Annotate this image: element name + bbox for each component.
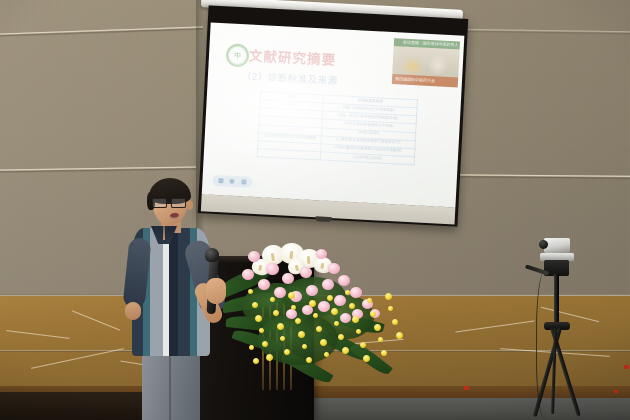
floral-arrangement: [222, 243, 414, 403]
orchid: [291, 305, 296, 310]
screen-pull-tab: [315, 216, 331, 222]
orchid: [356, 329, 361, 334]
orchid: [259, 328, 264, 333]
orchid: [302, 344, 307, 349]
microphone-head: [205, 248, 219, 262]
orchid: [298, 331, 305, 338]
orchid: [360, 342, 366, 348]
floor-marker: [464, 386, 469, 390]
camera-icon[interactable]: [241, 179, 246, 184]
orchid: [280, 336, 285, 341]
orchid: [388, 306, 393, 311]
orchid: [266, 354, 273, 361]
rose: [328, 263, 340, 274]
palm-frond: [349, 340, 393, 378]
seal-glyph: 中: [234, 50, 242, 60]
rose: [318, 301, 330, 312]
orchid: [342, 347, 349, 354]
orchid: [262, 341, 268, 347]
orchid: [381, 350, 387, 356]
rose: [300, 267, 312, 278]
orchid: [392, 319, 398, 325]
orchid: [309, 300, 316, 307]
projection-screen-surface: 中 文献研究摘要 （2）诊断标准及来源 会议直播 · 国际培训中医药传人 第四届…: [202, 22, 465, 207]
shirt-stripe: [169, 228, 178, 356]
orchid: [316, 326, 322, 332]
orchid: [378, 337, 383, 342]
orchid: [374, 324, 381, 331]
camera-cable: [536, 270, 559, 420]
rose: [282, 273, 294, 284]
orchid: [306, 357, 312, 363]
orchid: [313, 313, 318, 318]
rose: [350, 287, 362, 298]
rose: [322, 279, 334, 290]
orchid: [253, 358, 259, 364]
orchid: [338, 334, 344, 340]
presenter: [118, 178, 238, 420]
orchid: [255, 315, 262, 322]
camera-lens-icon: [539, 240, 548, 249]
rose: [274, 287, 286, 298]
orchid: [252, 302, 258, 308]
orchid: [331, 308, 338, 315]
orchid: [345, 290, 350, 295]
camera-tripod: [520, 228, 616, 418]
orchid: [273, 310, 279, 316]
rose: [242, 269, 254, 280]
orchid: [349, 303, 355, 309]
projection-screen-frame: 中 文献研究摘要 （2）诊断标准及来源 会议直播 · 国际培训中医药传人 第四届…: [198, 5, 469, 226]
orchid: [277, 323, 284, 330]
orchid: [284, 349, 290, 355]
orchid: [385, 293, 392, 300]
floor-marker: [624, 365, 629, 369]
orchid: [324, 352, 329, 357]
slide-title: 文献研究摘要: [249, 45, 337, 70]
orchid: [352, 316, 359, 323]
video-inset-frame: [392, 46, 459, 77]
orchid: [248, 289, 253, 294]
presentation-slide: 中 文献研究摘要 （2）诊断标准及来源 会议直播 · 国际培训中医药传人 第四届…: [202, 22, 465, 207]
rose: [316, 249, 327, 259]
diagnostic-criteria-table: 疾病 诊断标准及来源 肺癌西医《中医临床诊疗术语疾病部》西医《中华人民共和国药典…: [257, 91, 418, 165]
rose: [338, 275, 350, 286]
rose: [248, 251, 260, 262]
orchid: [396, 332, 403, 339]
video-inset-window: 会议直播 · 国际培训中医药传人 第四届国际中医药大会: [392, 38, 460, 87]
shirt-stripe: [150, 228, 163, 356]
slide-subtitle: （2）诊断标准及来源: [242, 68, 338, 87]
orchid: [320, 339, 327, 346]
orchid: [370, 311, 376, 317]
video-camera-body: [544, 238, 570, 253]
orchid: [327, 295, 333, 301]
orchid: [288, 292, 295, 299]
orchid: [367, 298, 372, 303]
eyeglasses-icon: [151, 198, 191, 208]
rose: [306, 285, 318, 296]
rose: [340, 313, 351, 323]
presenter-left-hand: [125, 302, 141, 320]
rose: [266, 263, 279, 275]
orchid: [334, 321, 339, 326]
orchid: [270, 297, 275, 302]
rose: [334, 295, 346, 306]
presenter-right-hand: [206, 278, 226, 304]
orchid: [249, 345, 254, 350]
video-inset-caption: 第四届国际中医药大会: [392, 74, 458, 87]
orchid: [363, 355, 370, 362]
rose: [258, 279, 270, 290]
conference-room-photo: 中 文献研究摘要 （2）诊断标准及来源 会议直播 · 国际培训中医药传人 第四届…: [0, 0, 630, 420]
orchid: [295, 318, 301, 324]
presenter-trousers: [142, 350, 200, 420]
institution-seal-icon: 中: [225, 43, 249, 67]
